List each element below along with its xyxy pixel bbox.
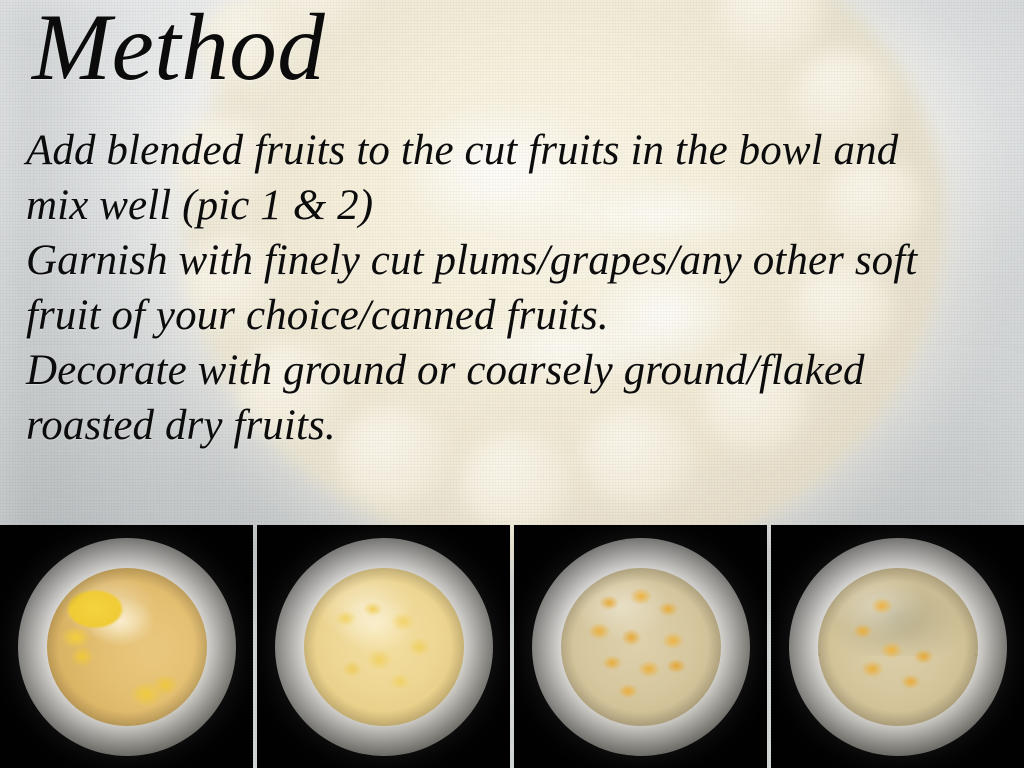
method-line: fruit of your choice/canned fruits. <box>26 288 1001 343</box>
method-line: mix well (pic 1 & 2) <box>26 178 1001 233</box>
photo-strip <box>0 525 1024 768</box>
method-line: Garnish with finely cut plums/grapes/any… <box>26 233 1001 288</box>
food-gloss <box>47 568 207 726</box>
method-text-block: Add blended fruits to the cut fruits in … <box>26 123 1001 453</box>
photo-pic-4 <box>771 525 1024 768</box>
photo-pic-1 <box>0 525 253 768</box>
page-title: Method <box>32 0 325 99</box>
food-contents <box>561 568 721 726</box>
recipe-slide: Method Add blended fruits to the cut fru… <box>0 0 1024 768</box>
food-contents <box>304 568 464 726</box>
photo-pic-3 <box>514 525 767 768</box>
flaked-dry-fruits <box>818 568 978 656</box>
food-gloss <box>304 568 464 726</box>
food-contents <box>47 568 207 726</box>
photo-pic-2 <box>257 525 510 768</box>
method-line: roasted dry fruits. <box>26 398 1001 453</box>
method-line: Add blended fruits to the cut fruits in … <box>26 123 1001 178</box>
food-gloss <box>561 568 721 726</box>
food-contents <box>818 568 978 726</box>
method-line: Decorate with ground or coarsely ground/… <box>26 343 1001 398</box>
food-gloss <box>818 568 978 726</box>
